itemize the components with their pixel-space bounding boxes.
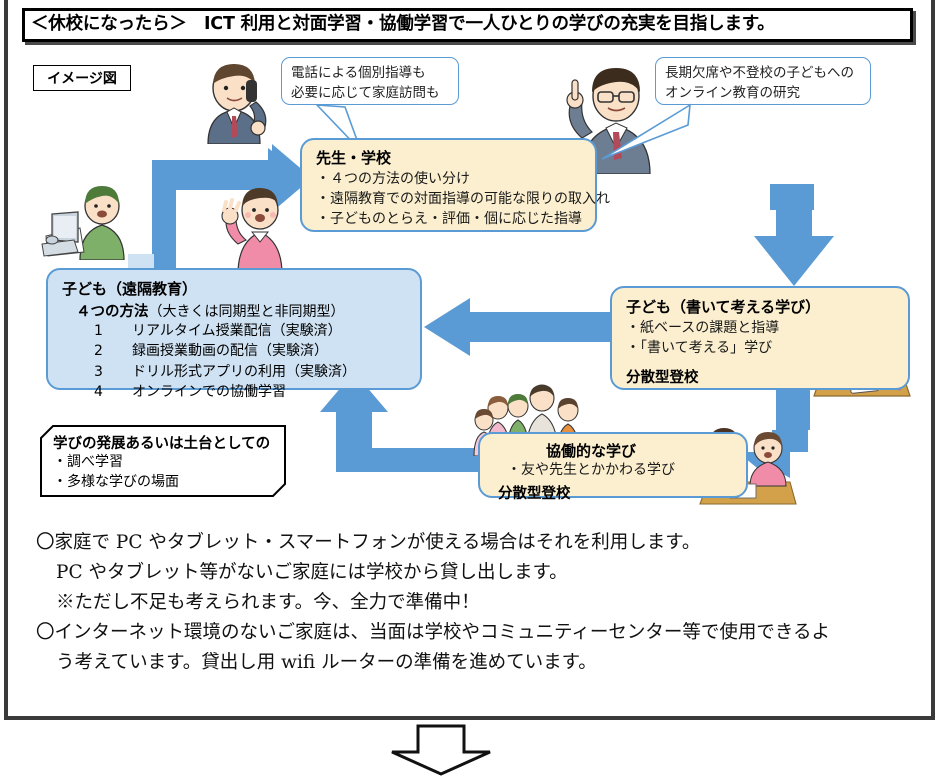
body-line-4: 〇インターネット環境のないご家庭は、当面は学校やコミュニティーセンター等で使用で…	[36, 618, 916, 648]
box-writing-footer: 分散型登校	[626, 366, 908, 387]
box-teacher-school: 先生・学校 ・４つの方法の使い分け ・遠隔教育での対面指導の可能な限りの取入れ …	[300, 138, 597, 232]
box-collab-line-1: ・友や先生とかかわる学び	[480, 461, 746, 481]
callout-online-tail	[596, 103, 692, 163]
box-child-distance-education: 子ども（遠隔教育） ４つの方法（大きくは同期型と非同期型） 1リアルタイム授業配…	[46, 268, 422, 390]
box-dev-line-1: ・調べ学習	[53, 453, 286, 473]
box-writing-line-2: ・「書いて考える」学び	[626, 339, 908, 359]
box-child-method-3: 3ドリル形式アプリの利用（実験済）	[62, 362, 420, 382]
method-1-number: 1	[94, 321, 132, 341]
page-frame-left	[4, 0, 8, 720]
image-diagram-label: イメージ図	[33, 65, 131, 91]
method-2-text: 録画授業動画の配信（実験済）	[132, 343, 328, 359]
box-dev-heading: 学びの発展あるいは土台としての	[53, 432, 286, 453]
method-3-text: ドリル形式アプリの利用（実験済）	[132, 364, 356, 380]
box-dev-line-2: ・多様な学びの場面	[53, 473, 286, 493]
box-collaborative-learning: 協働的な学び ・友や先生とかかわる学び 分散型登校	[478, 432, 748, 498]
page-title: ＜休校になったら＞ ICT 利用と対面学習・協働学習で一人ひとりの学びの充実を目…	[25, 16, 775, 34]
callout-phone-line-1: 電話による個別指導も	[291, 64, 449, 84]
body-line-5: う考えています。貸出し用 wifi ルーターの準備を進めています。	[36, 648, 916, 678]
method-4-number: 4	[94, 382, 132, 402]
arrow-teacher-elbow	[770, 184, 814, 210]
box-child-heading: 子ども（遠隔教育）	[62, 278, 420, 299]
method-4-text: オンラインでの協働学習	[132, 384, 286, 400]
continue-down-arrow-icon	[378, 724, 504, 776]
box-teacher-line-1: ・４つの方法の使い分け	[316, 170, 595, 190]
box-writing-heading: 子ども（書いて考える学び）	[626, 296, 908, 317]
callout-phone-guidance: 電話による個別指導も 必要に応じて家庭訪問も	[281, 57, 459, 105]
arrow-writing-to-child	[424, 298, 610, 356]
method-3-number: 3	[94, 362, 132, 382]
method-1-text: リアルタイム授業配信（実験済）	[132, 323, 342, 339]
callout-online-research: 長期欠席や不登校の子どもへの オンライン教育の研究	[655, 57, 871, 105]
box-child-method-4: 4オンラインでの協働学習	[62, 382, 420, 402]
box-child-subheading-paren: （大きくは同期型と非同期型）	[149, 304, 345, 320]
body-line-2: PC やタブレット等がないご家庭には学校から貸し出します。	[36, 558, 916, 588]
callout-online-line-2: オンライン教育の研究	[665, 84, 861, 104]
box-collab-heading: 協働的な学び	[480, 440, 746, 461]
box-teacher-heading: 先生・学校	[316, 147, 595, 168]
body-line-3: ※ただし不足も考えられます。今、全力で準備中！	[36, 588, 916, 618]
box-child-subheading: ４つの方法（大きくは同期型と非同期型）	[62, 300, 420, 321]
teacher-on-phone-illustration	[178, 58, 290, 144]
body-paragraph: 〇家庭で PC やタブレット・スマートフォンが使える場合はそれを利用します。 P…	[36, 528, 916, 678]
body-line-1: 〇家庭で PC やタブレット・スマートフォンが使える場合はそれを利用します。	[36, 528, 916, 558]
arrow-teacher-to-writing	[754, 186, 834, 286]
boy-at-computer-illustration	[28, 178, 140, 260]
box-child-subheading-bold: ４つの方法	[76, 304, 149, 320]
box-teacher-line-3: ・子どものとらえ・評価・個に応じた指導	[316, 210, 595, 230]
callout-online-line-1: 長期欠席や不登校の子どもへの	[665, 64, 861, 84]
callout-phone-line-2: 必要に応じて家庭訪問も	[291, 84, 449, 104]
box-learning-development: 学びの発展あるいは土台としての ・調べ学習 ・多様な学びの場面	[40, 425, 286, 497]
box-child-method-2: 2録画授業動画の配信（実験済）	[62, 341, 420, 361]
box-child-writing-learning: 子ども（書いて考える学び） ・紙ベースの課題と指導 ・「書いて考える」学び 分散…	[610, 286, 910, 390]
box-child-method-1: 1リアルタイム授業配信（実験済）	[62, 321, 420, 341]
method-2-number: 2	[94, 341, 132, 361]
girl-waving-illustration	[216, 182, 300, 274]
title-banner: ＜休校になったら＞ ICT 利用と対面学習・協働学習で一人ひとりの学びの充実を目…	[22, 8, 913, 42]
page-frame-bottom	[4, 716, 935, 720]
box-collab-footer: 分散型登校	[480, 482, 746, 503]
diagram-page: ＜休校になったら＞ ICT 利用と対面学習・協働学習で一人ひとりの学びの充実を目…	[0, 0, 939, 777]
box-teacher-line-2: ・遠隔教育での対面指導の可能な限りの取入れ	[316, 190, 595, 210]
page-frame-right	[931, 0, 935, 720]
box-writing-line-1: ・紙ベースの課題と指導	[626, 319, 908, 339]
